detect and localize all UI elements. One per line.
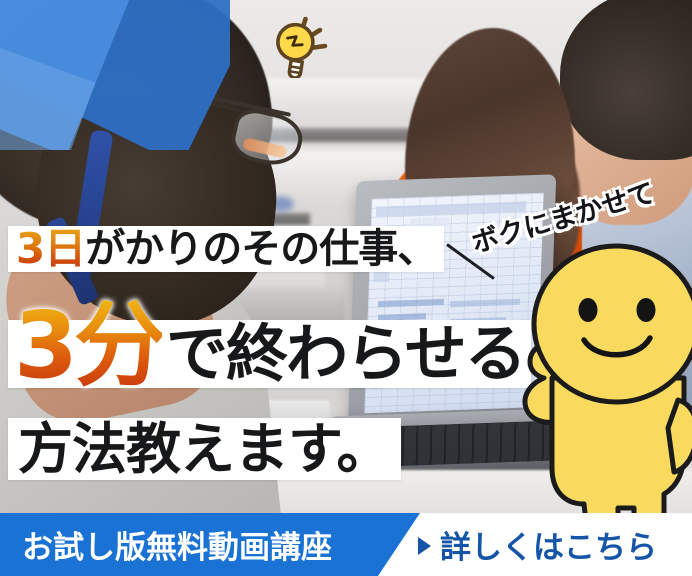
yellow-mascot-character	[492, 228, 692, 546]
cta-left-label[interactable]: お試し版無料動画講座	[22, 513, 332, 576]
cta-link[interactable]: 詳しくはこちら	[418, 513, 657, 576]
headline-line-3: 方法教えます。	[8, 418, 401, 480]
mascot-head	[534, 246, 692, 402]
triangle-right-icon	[418, 537, 431, 555]
blue-diagonal-corner	[0, 0, 230, 150]
ad-banner[interactable]: 3日 がかりのその仕事、 ボクにまかせて で終わらせる 3分	[0, 0, 692, 576]
headline-line-1-text: がかりのその仕事、	[85, 229, 436, 269]
headline-accent-3min: 3分	[14, 300, 162, 392]
mascot-eye-right	[637, 298, 656, 322]
headline-line-1: 3日 がかりのその仕事、	[8, 226, 444, 272]
lightbulb-icon	[262, 10, 334, 78]
cta-banner[interactable]: お試し版無料動画講座 詳しくはこちら	[0, 513, 692, 576]
cta-right-label: 詳しくはこちら	[440, 522, 657, 567]
mascot-right-arm	[668, 400, 692, 472]
headline-accent-3days: 3日	[16, 228, 85, 270]
mascot-eye-left	[579, 298, 598, 322]
headline-line-3-text: 方法教えます。	[18, 422, 391, 477]
